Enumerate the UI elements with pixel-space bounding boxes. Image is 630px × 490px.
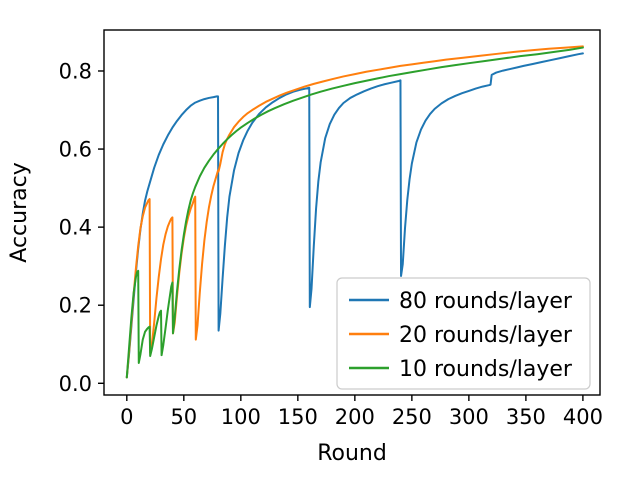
y-tick-label: 0.8: [59, 59, 92, 83]
y-tick-label: 0.4: [59, 216, 92, 240]
axes-layer: 0501001502002503003504000.00.20.40.60.8R…: [7, 30, 603, 466]
figure-canvas: 0501001502002503003504000.00.20.40.60.8R…: [0, 0, 630, 490]
y-tick-label: 0.2: [59, 294, 92, 318]
x-tick-label: 200: [335, 405, 375, 429]
line-chart: 0501001502002503003504000.00.20.40.60.8R…: [0, 0, 630, 490]
x-axis-title: Round: [317, 441, 387, 466]
x-tick-label: 150: [278, 405, 318, 429]
y-axis-title: Accuracy: [7, 162, 32, 262]
x-tick-label: 50: [170, 405, 197, 429]
x-tick-label: 400: [563, 405, 603, 429]
legend-label-1: 20 rounds/layer: [399, 323, 573, 348]
legend-label-0: 80 rounds/layer: [399, 289, 573, 314]
y-tick-label: 0.6: [59, 138, 92, 162]
x-tick-label: 300: [449, 405, 489, 429]
y-tick-label: 0.0: [59, 372, 92, 396]
x-tick-label: 350: [506, 405, 546, 429]
x-tick-label: 0: [120, 405, 133, 429]
legend-label-2: 10 rounds/layer: [399, 357, 573, 382]
x-tick-label: 250: [392, 405, 432, 429]
x-tick-label: 100: [221, 405, 261, 429]
legend-layer[interactable]: 80 rounds/layer20 rounds/layer10 rounds/…: [337, 278, 590, 389]
